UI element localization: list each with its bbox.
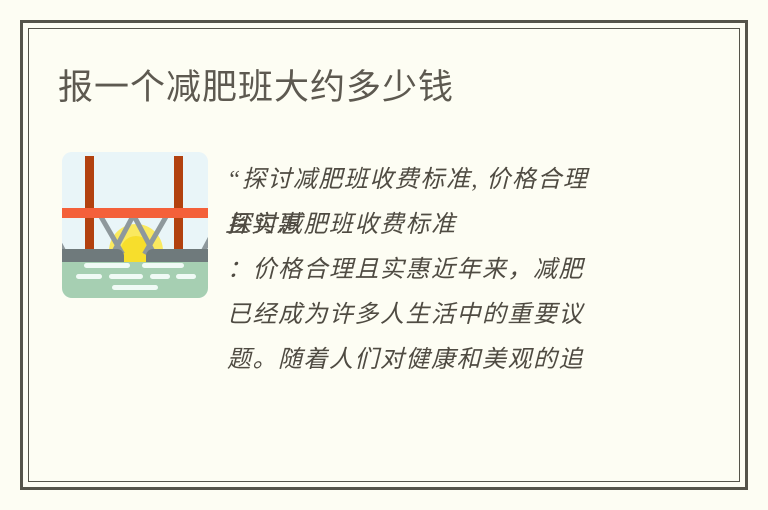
excerpt-line-3: ：价格合理且实惠近年来，减肥 xyxy=(227,248,667,293)
bridge-deck xyxy=(62,208,208,218)
excerpt-line-5: 题。随着人们对健康和美观的追 xyxy=(227,338,667,383)
wave-line xyxy=(76,274,102,279)
bridge-pier-right xyxy=(146,249,208,262)
wave-line xyxy=(109,274,143,279)
article-thumbnail-image xyxy=(62,152,208,298)
wave-line xyxy=(176,274,196,279)
wave-line xyxy=(150,274,170,279)
excerpt-line-4: 已经成为许多人生活中的重要议 xyxy=(227,293,667,338)
article-excerpt: “探讨减肥班收费标准, 价格合理 探讨减肥班收费标准 且实惠 ：价格合理且实惠近… xyxy=(227,158,667,383)
excerpt-line-2-over: 且实惠 xyxy=(225,203,302,248)
wave-line xyxy=(112,285,158,290)
article-page: 报一个减肥班大约多少钱 xyxy=(0,0,768,510)
page-title: 报一个减肥班大约多少钱 xyxy=(58,64,454,112)
bridge-pier-left xyxy=(62,249,124,262)
excerpt-line-2-overlapped: 探讨减肥班收费标准 且实惠 xyxy=(227,203,667,248)
wave-line xyxy=(84,263,130,268)
wave-line xyxy=(142,263,184,268)
excerpt-line-1: “探讨减肥班收费标准, 价格合理 xyxy=(227,158,667,203)
